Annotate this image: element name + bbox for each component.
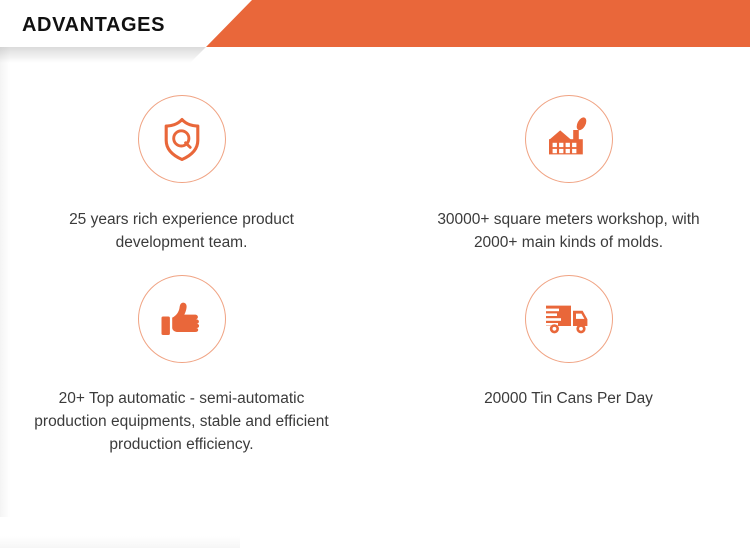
delivery-truck-icon bbox=[525, 275, 613, 363]
advantage-item-4: 20000 Tin Cans Per Day bbox=[387, 253, 750, 453]
thumbs-up-icon bbox=[138, 275, 226, 363]
advantage-text-1: 25 years rich experience product develop… bbox=[32, 208, 332, 254]
advantage-item-3: 20+ Top automatic - semi-automatic produ… bbox=[0, 253, 363, 453]
bottom-edge-shadow bbox=[0, 536, 240, 548]
advantage-item-2: 30000+ square meters workshop, with 2000… bbox=[387, 62, 750, 245]
advantage-item-1: 25 years rich experience product develop… bbox=[0, 62, 363, 245]
advantages-grid: 25 years rich experience product develop… bbox=[0, 62, 750, 453]
factory-icon bbox=[525, 95, 613, 183]
header-tab-shadow bbox=[0, 47, 232, 63]
shield-quality-icon bbox=[138, 95, 226, 183]
advantage-text-3: 20+ Top automatic - semi-automatic produ… bbox=[32, 387, 332, 456]
advantage-text-4: 20000 Tin Cans Per Day bbox=[419, 387, 719, 410]
page-header: ADVANTAGES bbox=[0, 0, 750, 47]
advantage-text-2: 30000+ square meters workshop, with 2000… bbox=[419, 208, 719, 254]
page-title: ADVANTAGES bbox=[22, 14, 165, 36]
